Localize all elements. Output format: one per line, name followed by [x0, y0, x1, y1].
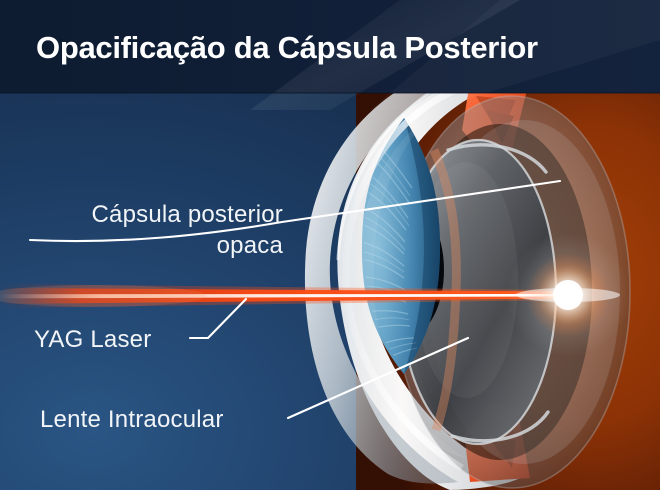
- label-yag-laser: YAG Laser: [34, 326, 151, 353]
- leader-line-lente-intraocular: [288, 338, 468, 418]
- annotation-layer: Opacificação da Cápsula Posterior Cápsul…: [0, 0, 660, 490]
- label-capsula-posterior-line2: opaca: [217, 232, 284, 259]
- page-title: Opacificação da Cápsula Posterior: [36, 30, 538, 65]
- illustration-canvas: Opacificação da Cápsula Posterior Cápsul…: [0, 0, 660, 490]
- label-lente-intraocular: Lente Intraocular: [40, 406, 224, 433]
- label-capsula-posterior-line1: Cápsula posterior: [92, 201, 284, 228]
- leader-line-yag-laser: [190, 299, 246, 338]
